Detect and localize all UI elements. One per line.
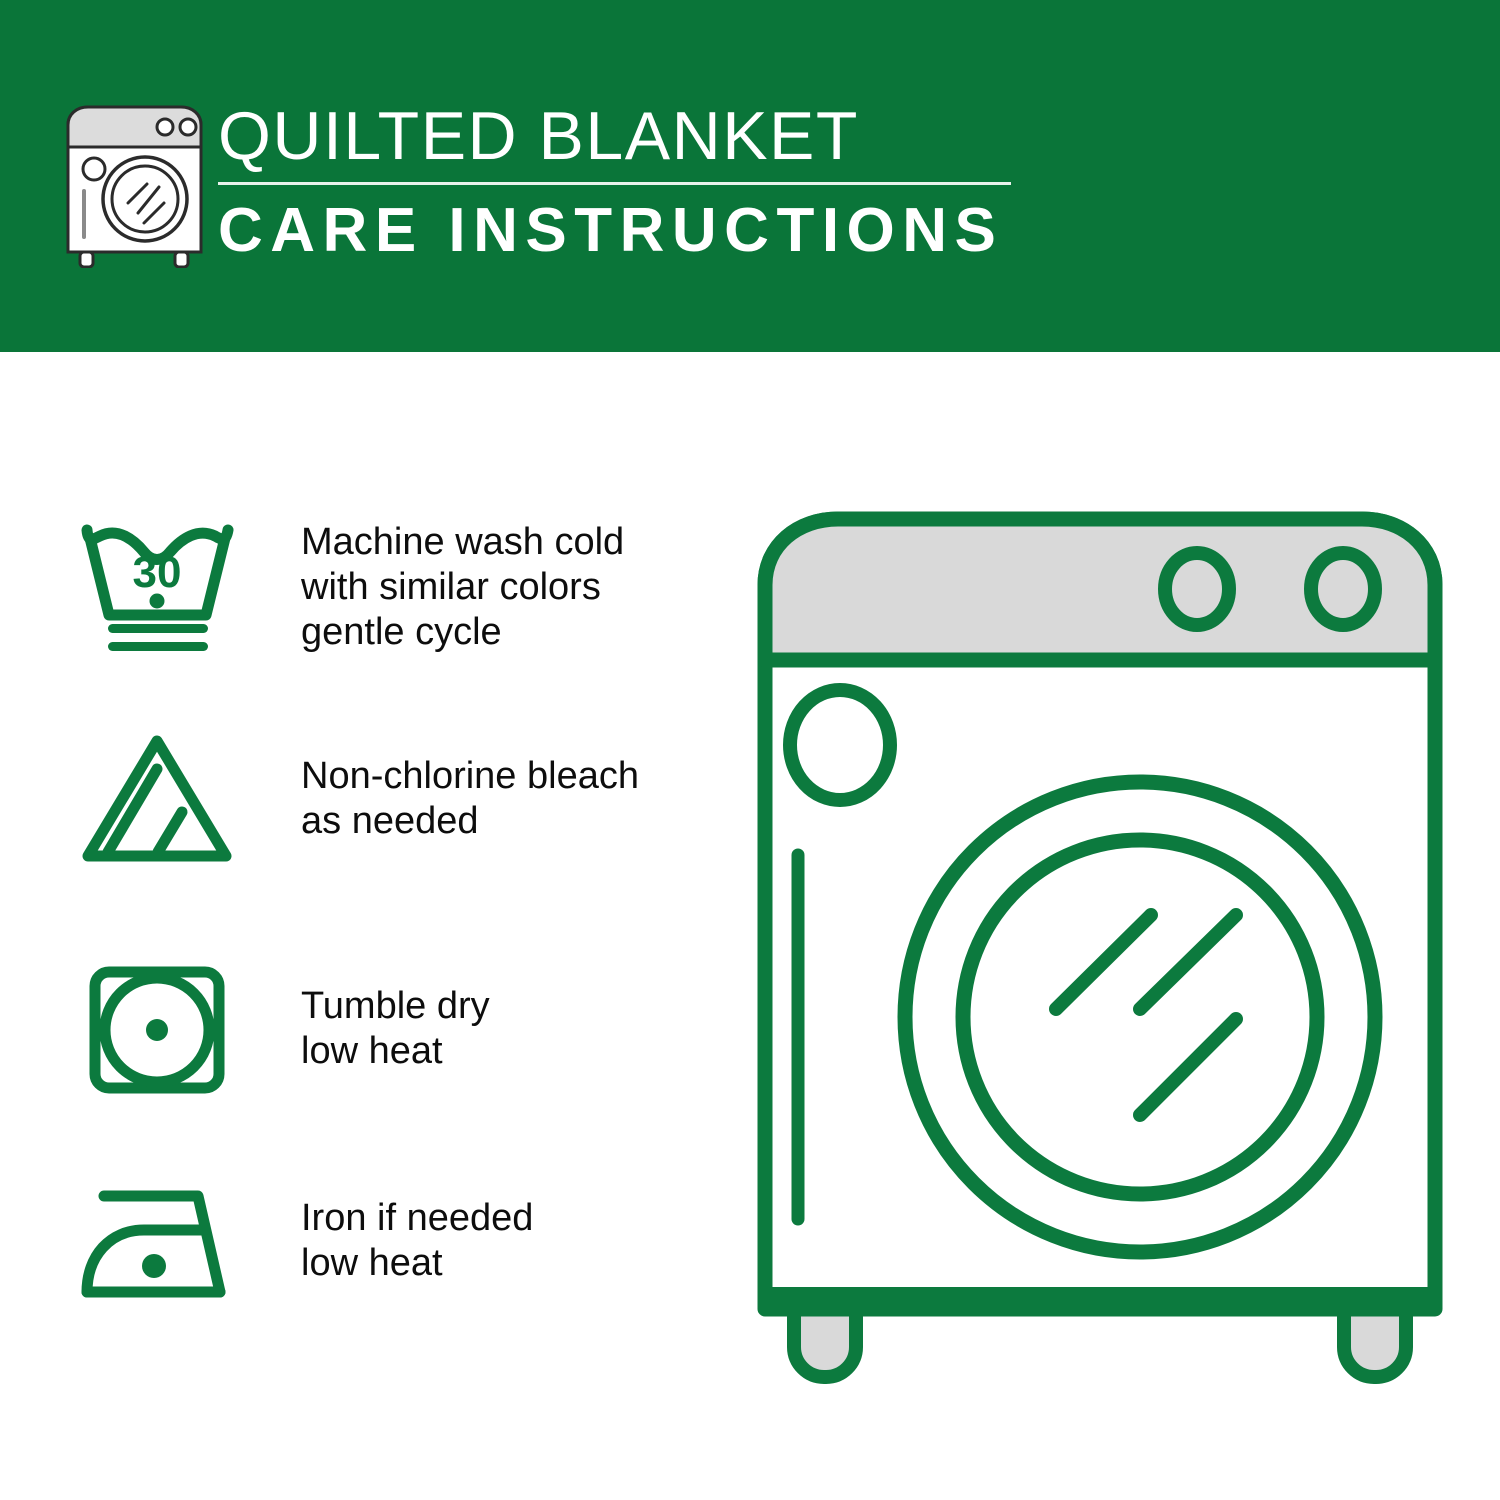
front-load-washing-machine-illustration xyxy=(740,497,1460,1437)
wash-tub-30-gentle-icon: 30 xyxy=(70,512,245,662)
header-text-block: QUILTED BLANKET CARE INSTRUCTIONS xyxy=(218,96,1018,267)
wash-temperature-label: 30 xyxy=(133,548,182,597)
instruction-text-wash: Machine wash cold with similar colors ge… xyxy=(301,520,624,655)
non-chlorine-bleach-triangle-icon xyxy=(70,724,245,874)
instruction-item-iron: Iron if needed low heat xyxy=(70,1166,533,1316)
care-instructions-page: QUILTED BLANKET CARE INSTRUCTIONS xyxy=(0,0,1500,1500)
instruction-text-tumble-dry: Tumble dry low heat xyxy=(301,984,490,1074)
instruction-text-iron: Iron if needed low heat xyxy=(301,1196,533,1286)
page-title: QUILTED BLANKET xyxy=(218,96,1018,176)
title-divider xyxy=(218,182,1011,185)
header-banner: QUILTED BLANKET CARE INSTRUCTIONS xyxy=(0,0,1500,352)
instruction-text-bleach: Non-chlorine bleach as needed xyxy=(301,754,639,844)
page-subtitle: CARE INSTRUCTIONS xyxy=(218,195,1018,267)
instruction-item-wash: 30 Machine wash cold with similar colors… xyxy=(70,512,624,662)
tumble-dry-low-icon xyxy=(70,954,245,1104)
washing-machine-icon xyxy=(62,103,207,268)
iron-low-heat-icon xyxy=(70,1166,245,1316)
content-area: 30 Machine wash cold with similar colors… xyxy=(0,352,1500,1500)
instruction-item-bleach: Non-chlorine bleach as needed xyxy=(70,724,639,874)
instruction-item-tumble-dry: Tumble dry low heat xyxy=(70,954,490,1104)
